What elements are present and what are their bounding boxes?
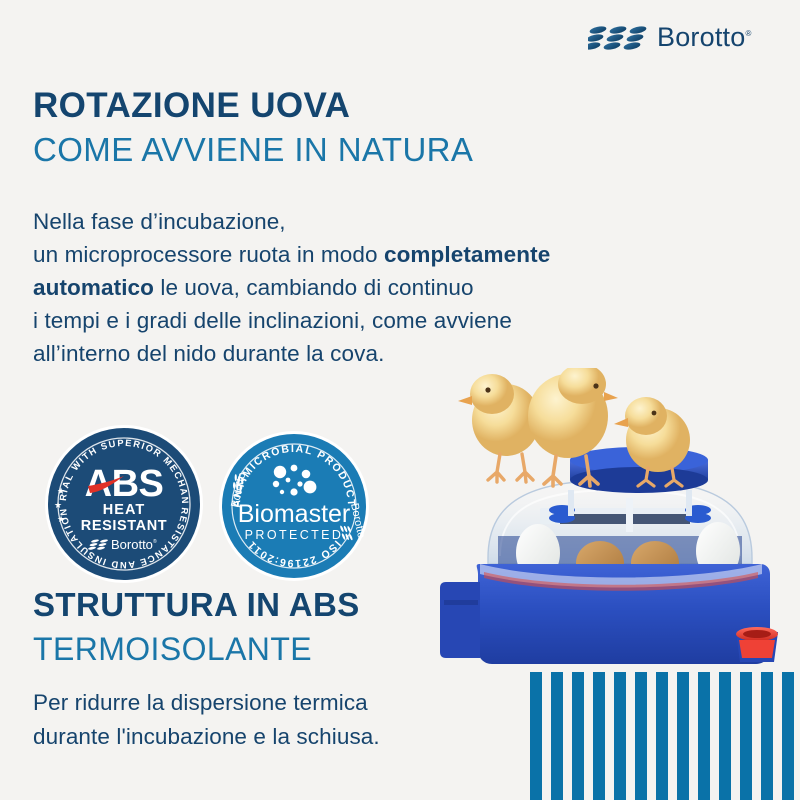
svg-text:★: ★ (54, 500, 62, 510)
svg-text:PROTECTED: PROTECTED (245, 528, 344, 542)
poster-canvas: Borotto® ROTAZIONE UOVA COME AVVIENE IN … (0, 0, 800, 800)
svg-text:★: ★ (57, 514, 65, 524)
svg-text:Borotto: Borotto (111, 537, 153, 552)
biomaster-protected-badge: ANTIMICROBIAL PRODUCT ISO 22196:2011 Bio… (218, 430, 370, 582)
brand-name: Borotto® (657, 22, 752, 53)
page-subtitle: COME AVVIENE IN NATURA (33, 133, 473, 166)
paragraph-line: durante l'incubazione e la schiusa. (33, 720, 380, 754)
brand-logo: Borotto® (588, 22, 752, 53)
paragraph-line: Per ridurre la dispersione termica (33, 686, 380, 720)
paragraph-line: un microprocessore ruota in modo complet… (33, 238, 550, 271)
secondary-subtitle: TERMOISOLANTE (33, 633, 312, 665)
svg-text:®: ® (153, 538, 157, 545)
bottom-paragraph: Per ridurre la dispersione termicadurant… (33, 686, 380, 754)
paragraph-line: all’interno del nido durante la cova. (33, 337, 550, 370)
paragraph-line: Nella fase d’incubazione, (33, 205, 550, 238)
egg-grid-icon (588, 25, 650, 51)
page-title: ROTAZIONE UOVA (33, 88, 350, 123)
svg-text:RESISTANT: RESISTANT (81, 518, 168, 534)
paragraph-line: i tempi e i gradi delle inclinazioni, co… (33, 304, 550, 337)
top-paragraph: Nella fase d’incubazione,un microprocess… (33, 205, 550, 370)
abs-heat-resistant-badge: MATERIAL WITH SUPERIOR MECHANICAL RESIST… (44, 424, 204, 584)
paragraph-line: automatico le uova, cambiando di continu… (33, 271, 550, 304)
registered-mark: ® (745, 29, 751, 38)
svg-text:HEAT: HEAT (103, 502, 145, 518)
svg-text:ABS: ABS (85, 463, 164, 505)
secondary-title: STRUTTURA IN ABS (33, 588, 360, 621)
borotto-egg-incubator-photo (440, 368, 800, 698)
svg-text:Biomaster: Biomaster (238, 500, 351, 528)
svg-text:★: ★ (57, 486, 65, 496)
